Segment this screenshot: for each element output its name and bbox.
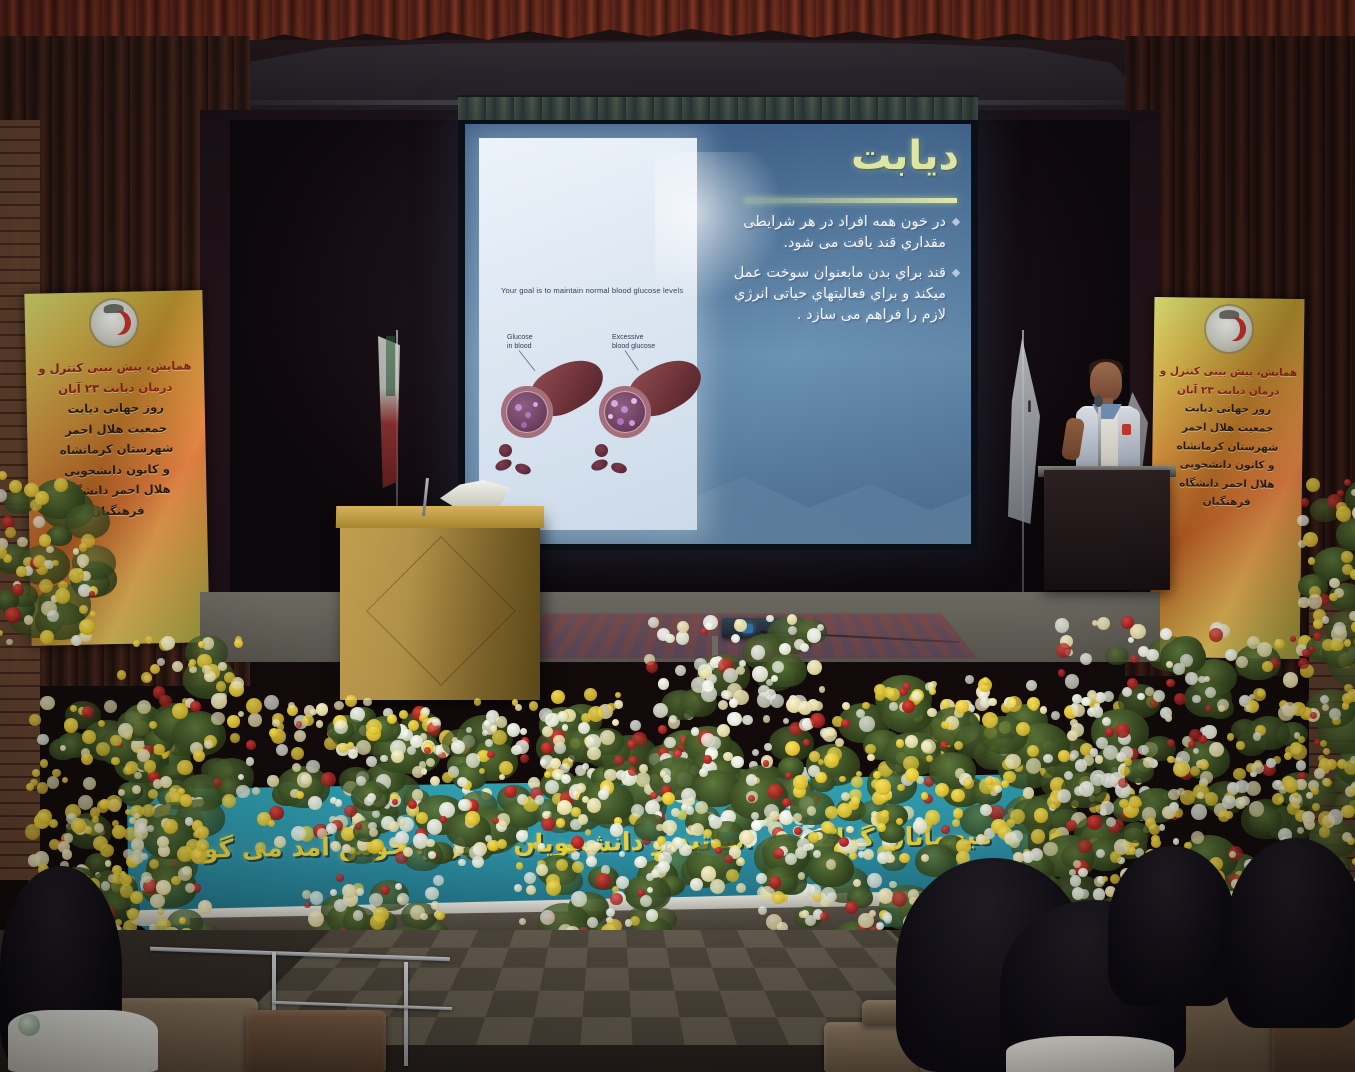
flower-bloom: [954, 741, 963, 750]
flower-bloom: [457, 777, 467, 787]
flower-bloom: [267, 775, 278, 786]
flower-bloom: [46, 546, 53, 553]
flower-bloom: [426, 839, 434, 847]
flower-bloom: [90, 611, 96, 617]
flower-bloom: [824, 753, 839, 768]
flower-bloom: [675, 665, 686, 676]
flower-bloom: [465, 811, 480, 826]
flower-bloom: [739, 660, 746, 667]
flower-bloom: [600, 730, 615, 745]
flower-bloom: [1166, 661, 1173, 668]
flower-bloom: [1160, 707, 1172, 719]
flower-bloom: [766, 615, 774, 623]
foliage: [1105, 646, 1129, 665]
flower-bloom: [772, 891, 785, 904]
flower-bloom: [1301, 498, 1309, 506]
flower-bloom: [1282, 702, 1297, 717]
flower-bloom: [1205, 792, 1219, 806]
banner-right-line-5: شهرستان کرمانشاه: [1157, 438, 1297, 457]
crescent-icon: [1218, 317, 1240, 341]
flower-bloom: [9, 480, 22, 493]
flower-bloom: [767, 784, 782, 799]
flower-bloom: [869, 910, 876, 917]
flower-bloom: [612, 886, 619, 893]
flower-bloom: [657, 836, 665, 844]
flower-bloom: [1067, 730, 1078, 741]
banner-right-line-2: درمان دیابت ۲۳ آبان: [1158, 382, 1298, 401]
flower-bloom: [875, 779, 890, 794]
banner-right: همایش، پیش بینی کنترل و درمان دیابت ۲۳ آ…: [1149, 297, 1304, 659]
flower-bloom: [593, 842, 601, 850]
flower-bloom: [927, 708, 936, 717]
flower-bloom: [363, 698, 371, 706]
flower-bloom: [519, 918, 526, 925]
flower-bloom: [520, 754, 529, 763]
flower-bloom: [264, 695, 279, 710]
flower-bloom: [1205, 687, 1216, 698]
flower-bloom: [1065, 674, 1080, 689]
flower-bloom: [890, 845, 896, 851]
flower-bloom: [236, 785, 249, 798]
flower-bloom: [200, 844, 206, 850]
auditorium-seat[interactable]: [246, 1010, 386, 1072]
flower-bloom: [708, 814, 717, 823]
flower-bloom: [1291, 744, 1307, 760]
flower-bloom: [105, 860, 111, 866]
flower-bloom: [662, 792, 675, 805]
flower-bloom: [694, 658, 707, 671]
flower-bloom: [1344, 639, 1352, 647]
flower-bloom: [986, 777, 994, 785]
flower-bloom: [120, 884, 134, 898]
flower-bloom: [556, 859, 568, 871]
flower-bloom: [1209, 742, 1224, 757]
flower-bloom: [291, 747, 304, 760]
flower-bloom: [825, 806, 838, 819]
flower-bloom: [516, 862, 524, 870]
flower-bloom: [606, 908, 615, 917]
flower-bloom: [157, 908, 164, 915]
banner-right-line-8: فرهنگیان: [1157, 494, 1297, 513]
flower-bloom: [163, 819, 178, 834]
flower-bloom: [1074, 786, 1084, 796]
flower-bloom: [403, 847, 413, 857]
red-crescent-emblem-icon: [1206, 306, 1253, 353]
flower-bloom: [734, 619, 747, 632]
flower-bloom: [202, 665, 211, 674]
flower-bloom: [604, 769, 616, 781]
flower-bloom: [660, 768, 671, 779]
banner-right-line-1: همایش، پیش بینی کنترل و: [1158, 363, 1298, 382]
flower-bloom: [541, 817, 555, 831]
flower-bloom: [1072, 704, 1085, 717]
flower-bloom: [125, 809, 131, 815]
flower-bloom: [1275, 780, 1282, 787]
flower-bloom: [751, 645, 766, 660]
flower-bloom: [71, 635, 82, 646]
flower-bloom: [1337, 490, 1344, 497]
flower-bloom: [39, 579, 53, 593]
leader-line-right: [625, 350, 639, 370]
flower-bloom: [650, 792, 657, 799]
flower-bloom: [252, 787, 260, 795]
flower-bloom: [356, 776, 366, 786]
flower-bloom: [157, 658, 165, 666]
banner-left-line-4: جمعیت هلال احمر: [32, 418, 200, 440]
flower-bloom: [703, 615, 718, 630]
flower-bloom: [770, 694, 784, 708]
flower-bloom: [1030, 703, 1038, 711]
flower-bloom: [469, 845, 484, 860]
flower-bloom: [648, 617, 660, 629]
flower-bloom: [536, 864, 548, 876]
flower-bloom: [1090, 748, 1098, 756]
flower-bloom: [308, 911, 324, 927]
audience-member: [1226, 838, 1355, 1028]
flower-bloom: [94, 823, 104, 833]
flower-bloom: [520, 728, 527, 735]
flower-bloom: [55, 588, 71, 604]
flower-bloom: [763, 715, 771, 723]
flower-bloom: [1331, 626, 1347, 642]
audience-member-shirt: [1006, 1036, 1174, 1072]
flower-bloom: [514, 884, 522, 892]
flower-bloom: [681, 804, 688, 811]
flower-bloom: [1311, 787, 1319, 795]
flower-bloom: [584, 688, 597, 701]
flower-bloom: [433, 745, 443, 755]
flower-bloom: [1290, 636, 1296, 642]
flower-bloom: [291, 826, 306, 841]
flower-bloom: [1055, 618, 1069, 632]
flower-bloom: [1253, 732, 1262, 741]
flower-bloom: [669, 715, 677, 723]
flower-bloom: [1328, 809, 1343, 824]
flower-bloom: [1266, 758, 1276, 768]
flower-bloom: [657, 628, 670, 641]
flower-bloom: [496, 716, 508, 728]
flower-bloom: [364, 796, 374, 806]
auditorium-photo: Your goal is to maintain normal blood gl…: [0, 0, 1355, 1072]
flower-bloom: [736, 883, 746, 893]
flower-bloom: [935, 783, 949, 797]
flower-bloom: [1087, 707, 1097, 717]
flower-bloom: [736, 858, 744, 866]
flower-bloom: [797, 838, 810, 851]
flower-bloom: [1166, 679, 1175, 688]
flower-bloom: [758, 906, 767, 915]
flower-bloom: [316, 720, 324, 728]
flower-bloom: [1105, 727, 1114, 736]
flower-bloom: [5, 527, 16, 538]
flower-bloom: [799, 718, 812, 731]
flower-bloom: [193, 750, 205, 762]
banner-left-line-5: شهرستان کرمانشاه: [32, 438, 200, 460]
flower-bloom: [1209, 628, 1223, 642]
flower-bloom: [342, 844, 351, 853]
flower-bloom: [408, 800, 417, 809]
flower-bloom: [40, 630, 54, 644]
flower-bloom: [272, 719, 280, 727]
flower-bloom: [1006, 696, 1022, 712]
flower-bloom: [710, 879, 725, 894]
flower-bloom: [355, 823, 362, 830]
flower-bloom: [1127, 678, 1138, 689]
flower-bloom: [52, 769, 61, 778]
flower-bloom: [147, 825, 154, 832]
flower-bloom: [1306, 478, 1321, 493]
flower-bloom: [1100, 801, 1113, 814]
flower-bloom: [246, 740, 256, 750]
flower-bloom: [687, 825, 696, 834]
flower-bloom: [1218, 810, 1230, 822]
flower-bloom: [578, 814, 589, 825]
flower-bloom: [1303, 532, 1318, 547]
flower-bloom: [1073, 860, 1081, 868]
flower-bloom: [432, 719, 440, 727]
flower-bloom: [1341, 551, 1352, 562]
flower-bloom: [524, 872, 537, 885]
flower-bloom: [1167, 756, 1175, 764]
flower-bloom: [1124, 758, 1132, 766]
slide-body: در خون همه افراد در هر شرایطی مقداري قند…: [707, 212, 959, 335]
flower-bloom: [1110, 851, 1121, 862]
flower-bloom: [1236, 741, 1245, 750]
flower-bloom: [1093, 888, 1106, 901]
flower-bloom: [787, 614, 798, 625]
flower-bloom: [892, 891, 908, 907]
flower-bloom: [334, 899, 347, 912]
flower-bloom: [1026, 680, 1037, 691]
flower-bloom: [193, 831, 200, 838]
flower-bloom: [112, 873, 122, 883]
flower-bloom: [1341, 805, 1354, 818]
flower-bloom: [674, 838, 684, 848]
flower-bloom: [392, 799, 398, 805]
flower-bloom: [297, 772, 312, 787]
flower-bloom: [671, 808, 679, 816]
flower-bloom: [1199, 760, 1209, 770]
flower-bloom: [646, 909, 659, 922]
flower-bloom: [571, 891, 587, 907]
flower-bloom: [1298, 597, 1310, 609]
flower-bloom: [345, 695, 357, 707]
flower-bloom: [1151, 835, 1160, 844]
flower-bloom: [401, 729, 413, 741]
flower-bloom: [395, 883, 402, 890]
flower-bloom: [40, 759, 49, 768]
flower-bloom: [1129, 796, 1140, 807]
flower-bloom: [727, 712, 742, 727]
flower-bloom: [1058, 669, 1065, 676]
flower-bloom: [492, 817, 499, 824]
flower-bloom: [30, 779, 38, 787]
excessive-label-line1: Excessive: [612, 334, 655, 343]
flower-bloom: [896, 818, 903, 825]
flower-bloom: [1192, 695, 1201, 704]
flower-bloom: [634, 857, 645, 868]
flower-bloom: [562, 724, 569, 731]
speaker-badge: [1122, 424, 1131, 435]
flower-bloom: [1244, 705, 1252, 713]
flower-bloom: [302, 715, 313, 726]
flower-bloom: [1257, 642, 1272, 657]
flower-bloom: [1010, 830, 1023, 843]
flower-bloom: [711, 658, 719, 666]
flower-bloom: [540, 910, 555, 925]
flower-bloom: [587, 747, 601, 761]
flower-bloom: [330, 889, 337, 896]
flower-bloom: [884, 915, 893, 924]
flower-bloom: [793, 813, 802, 822]
flower-bloom: [368, 822, 377, 831]
flower-bloom: [435, 911, 444, 920]
flower-bloom: [576, 783, 586, 793]
flower-bloom: [546, 880, 562, 896]
slide-bullet-1: در خون همه افراد در هر شرایطی مقداري قند…: [707, 212, 959, 254]
flower-bloom: [40, 696, 54, 710]
flower-bloom: [550, 758, 562, 770]
flower-bloom: [1293, 792, 1299, 798]
flower-bloom: [540, 759, 547, 766]
flower-bloom: [889, 702, 898, 711]
flower-bloom: [763, 760, 769, 766]
flower-bloom: [0, 471, 7, 480]
flower-bloom: [557, 800, 572, 815]
flower-bloom: [676, 631, 690, 645]
flower-bloom: [430, 776, 440, 786]
flower-bloom: [269, 806, 283, 820]
flower-bloom: [150, 894, 164, 908]
flower-bloom: [1120, 766, 1130, 776]
flower-bloom: [1284, 778, 1299, 793]
flower-bloom: [1191, 804, 1207, 820]
flower-bloom: [1287, 802, 1300, 815]
flower-bloom: [529, 701, 539, 711]
flower-bloom: [1297, 515, 1309, 527]
flower-bloom: [64, 718, 79, 733]
flower-bloom: [96, 742, 110, 756]
flower-bloom: [538, 843, 545, 850]
flower-bloom: [492, 730, 507, 745]
flower-bloom: [129, 817, 136, 824]
flower-bloom: [316, 703, 328, 715]
flower-bloom: [771, 675, 778, 682]
flower-bloom: [867, 754, 875, 762]
flower-bloom: [912, 691, 921, 700]
flower-bloom: [431, 901, 439, 909]
flower-bloom: [306, 760, 319, 773]
flower-bloom: [835, 738, 844, 747]
flower-bloom: [1106, 817, 1116, 827]
railing-post-2: [404, 962, 408, 1066]
flower-bloom: [1137, 693, 1144, 700]
flower-bloom: [420, 913, 428, 921]
slide-illustration-panel: Your goal is to maintain normal blood gl…: [479, 138, 697, 530]
flower-bloom: [6, 639, 12, 645]
flower-bloom: [1320, 695, 1329, 704]
flower-bloom: [630, 720, 641, 731]
flower-bloom: [37, 782, 49, 794]
flower-bloom: [370, 839, 383, 852]
flower-bloom: [598, 789, 609, 800]
flower-bloom: [681, 788, 697, 804]
flower-bloom: [47, 776, 59, 788]
flower-bloom: [1348, 787, 1355, 796]
flower-bloom: [595, 873, 611, 889]
flower-bloom: [296, 791, 304, 799]
flower-bloom: [1342, 693, 1353, 704]
flower-bloom: [640, 895, 652, 907]
flower-bloom: [610, 893, 622, 905]
slide-title-underline: [745, 198, 957, 203]
flower-bloom: [896, 739, 905, 748]
flower-bloom: [292, 763, 301, 772]
flower-bloom: [1119, 799, 1129, 809]
flower-bloom: [12, 584, 24, 596]
flower-bloom: [614, 755, 624, 765]
flower-bloom: [499, 774, 505, 780]
flower-bloom: [32, 769, 40, 777]
flower-bloom: [953, 808, 963, 818]
flower-cluster: [120, 640, 250, 810]
flower-cluster: [1300, 480, 1355, 670]
flower-bloom: [703, 829, 712, 838]
flower-bloom: [793, 775, 807, 789]
flower-bloom: [851, 796, 860, 805]
flower-bloom: [516, 830, 529, 843]
flower-bloom: [1278, 797, 1284, 803]
flower-bloom: [294, 730, 306, 742]
flower-bloom: [248, 713, 261, 726]
flower-bloom: [1173, 761, 1189, 777]
flower-bloom: [940, 741, 948, 749]
flower-bloom: [17, 537, 27, 547]
flower-bloom: [172, 661, 183, 672]
excessive-glucose-label: Excessive blood glucose: [612, 334, 655, 352]
flower-bloom: [1096, 849, 1105, 858]
flower-bloom: [308, 796, 322, 810]
flower-bloom: [553, 735, 564, 746]
excessive-label-line2: blood glucose: [612, 343, 655, 352]
flower-bloom: [1145, 687, 1154, 696]
flower-bloom: [356, 740, 371, 755]
flower-bloom: [161, 636, 175, 650]
flower-bloom: [980, 804, 992, 816]
flower-bloom: [794, 827, 802, 835]
flower-bloom: [819, 686, 825, 692]
flower-bloom: [826, 859, 837, 870]
flower-bloom: [1308, 557, 1316, 565]
flower-bloom: [542, 726, 553, 737]
flower-bloom: [1329, 593, 1337, 601]
flower-bloom: [117, 670, 126, 679]
flower-bloom: [198, 900, 212, 914]
flower-bloom: [112, 825, 126, 839]
banner-left-line-1: همایش، پیش بینی کنترل و: [31, 356, 199, 378]
flower-bloom: [690, 878, 703, 891]
flower-bloom: [1051, 711, 1060, 720]
flower-bloom: [1217, 699, 1229, 711]
flower-bloom: [29, 714, 41, 726]
flower-bloom: [227, 715, 239, 727]
flower-bloom: [515, 740, 529, 754]
glucose-in-blood-label: Glucose in blood: [507, 334, 533, 352]
flower-bloom: [416, 812, 428, 824]
flower-bloom: [344, 805, 357, 818]
flower-bloom: [785, 741, 800, 756]
flower-bloom: [1130, 655, 1138, 663]
